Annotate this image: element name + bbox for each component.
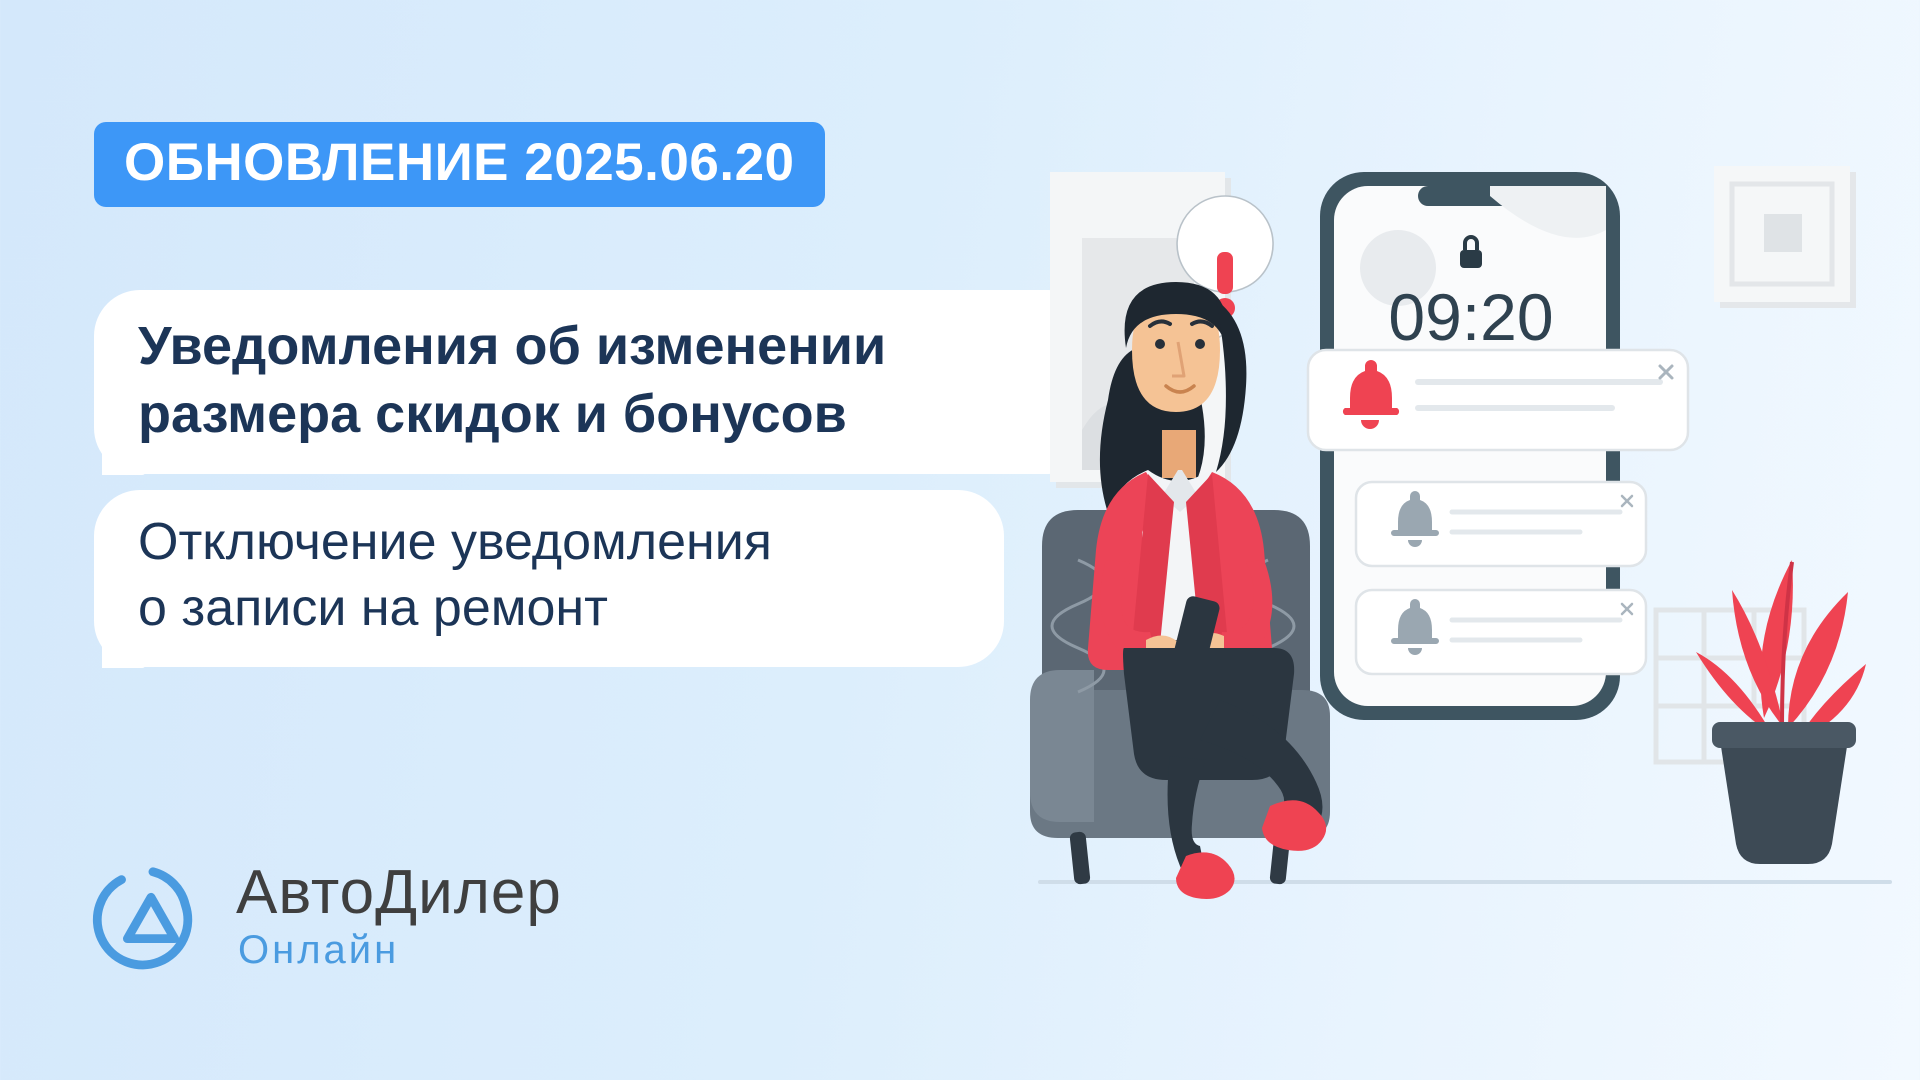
autodealer-logo-icon	[92, 858, 210, 976]
potted-plant	[1656, 560, 1866, 864]
feature-bubble-discounts: Уведомления об изменении размера скидок …	[94, 290, 1094, 474]
notification-card-1[interactable]	[1308, 350, 1688, 450]
brand-name: АвтоДилер	[236, 862, 562, 924]
illustration-canvas: 09:20	[1020, 0, 1920, 1080]
picture-frame-small-icon	[1714, 166, 1856, 308]
brand-tagline: Онлайн	[238, 928, 562, 972]
phone-clock-time: 09:20	[1388, 280, 1553, 354]
banner-stage: ОБНОВЛЕНИЕ 2025.06.20 Уведомления об изм…	[0, 0, 1920, 1080]
left-content-column: ОБНОВЛЕНИЕ 2025.06.20 Уведомления об изм…	[0, 0, 1060, 1080]
brand-logo-text: АвтоДилер Онлайн	[236, 862, 562, 972]
feature-bubble-repair-notice-line-2: о записи на ремонт	[138, 576, 960, 642]
hero-illustration: 09:20	[1020, 0, 1920, 1080]
brand-logo: АвтоДилер Онлайн	[92, 858, 562, 976]
notification-card-2[interactable]	[1356, 482, 1646, 566]
feature-bubble-discounts-line-1: Уведомления об изменении	[138, 312, 1050, 380]
update-version-badge: ОБНОВЛЕНИЕ 2025.06.20	[94, 122, 825, 207]
notification-card-3[interactable]	[1356, 590, 1646, 674]
feature-bubble-repair-notice: Отключение уведомления о записи на ремон…	[94, 490, 1004, 667]
feature-bubble-discounts-line-2: размера скидок и бонусов	[138, 380, 1050, 448]
feature-bubble-repair-notice-line-1: Отключение уведомления	[138, 510, 960, 576]
